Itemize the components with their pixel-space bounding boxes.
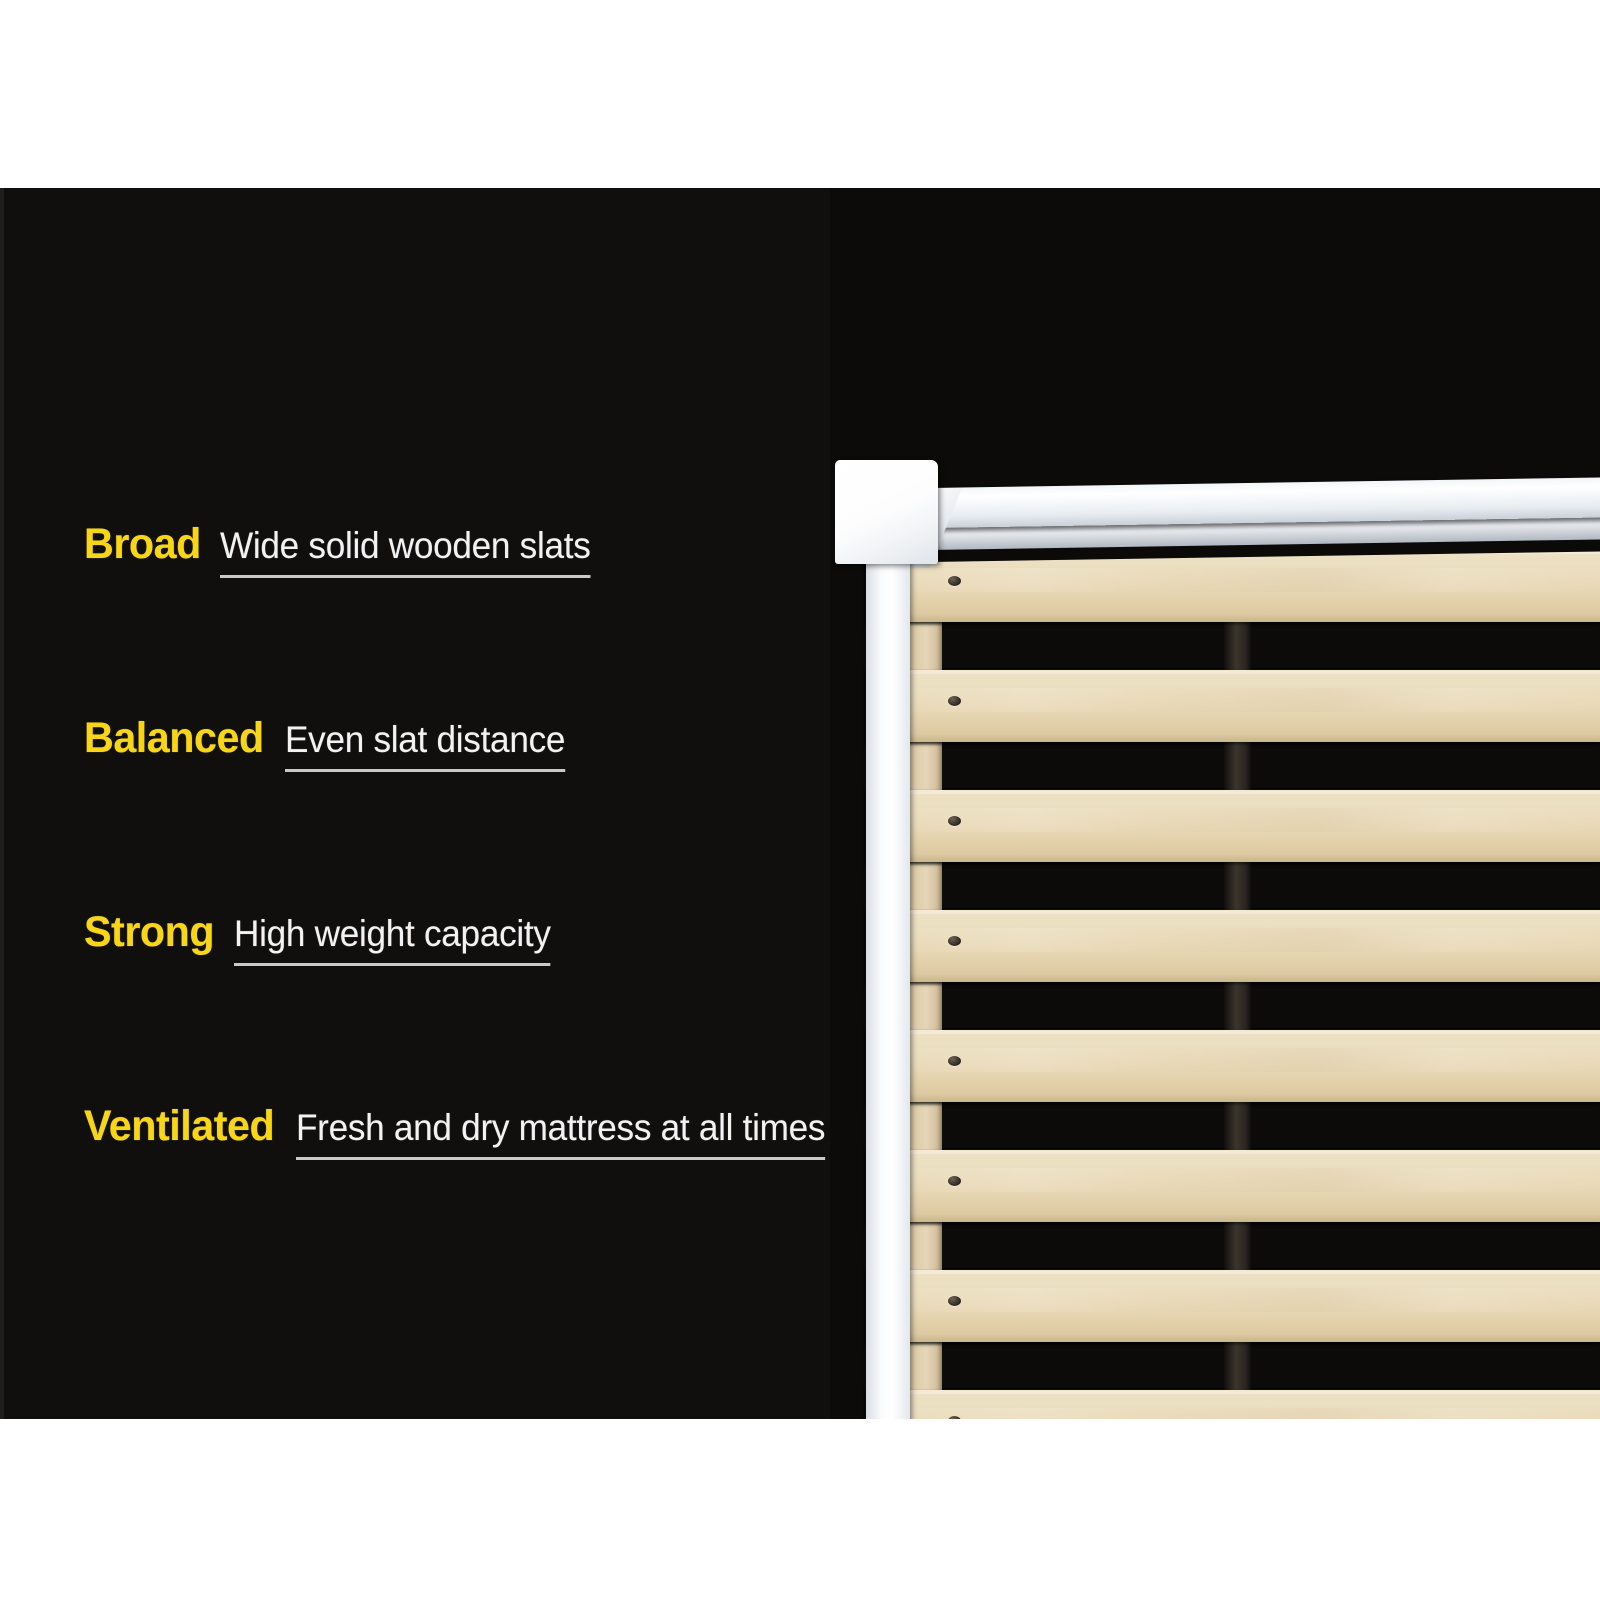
feature-key-strong: Strong — [84, 911, 214, 954]
feature-desc-ventilated: Fresh and dry mattress at all times — [296, 1109, 825, 1146]
slat — [866, 910, 1600, 982]
feature-desc-broad: Wide solid wooden slats — [220, 527, 591, 564]
screw-icon — [948, 576, 961, 586]
product-photo-bed-slats — [830, 188, 1600, 1419]
screw-icon — [948, 1176, 961, 1186]
screw-icon — [948, 936, 961, 946]
slat — [866, 1390, 1600, 1419]
feature-underline-ventilated — [296, 1157, 825, 1160]
slat — [866, 790, 1600, 862]
page-title: Reinforced thick slats — [56, 100, 1544, 192]
corner-post-cap — [835, 460, 938, 564]
feature-key-balanced: Balanced — [84, 717, 264, 760]
feature-row-broad: Broad Wide solid wooden slats — [84, 372, 844, 566]
feature-row-strong: Strong High weight capacity — [84, 760, 844, 954]
feature-row-ventilated: Ventilated Fresh and dry mattress at all… — [84, 954, 844, 1148]
screw-icon — [948, 1056, 961, 1066]
screw-icon — [948, 696, 961, 706]
panel-edge-highlight — [0, 188, 4, 1419]
corner-post — [866, 488, 910, 1419]
screw-icon — [948, 1296, 961, 1306]
feature-list: Broad Wide solid wooden slats Balanced E… — [84, 372, 844, 1148]
feature-row-balanced: Balanced Even slat distance — [84, 566, 844, 760]
screw-icon — [948, 816, 961, 826]
feature-desc-wrap-strong: High weight capacity — [234, 915, 567, 954]
poster-canvas: Reinforced thick slats Broad Wide solid … — [0, 0, 1600, 1600]
feature-desc-balanced: Even slat distance — [285, 721, 565, 758]
feature-desc-strong: High weight capacity — [234, 915, 551, 952]
slat — [866, 1150, 1600, 1222]
slat — [866, 1270, 1600, 1342]
screw-icon — [948, 1416, 961, 1419]
feature-key-broad: Broad — [84, 523, 201, 566]
feature-desc-wrap-broad: Wide solid wooden slats — [220, 527, 610, 566]
slat — [866, 1030, 1600, 1102]
feature-key-ventilated: Ventilated — [84, 1105, 274, 1148]
feature-desc-wrap-ventilated: Fresh and dry mattress at all times — [296, 1109, 853, 1148]
slat-group-overlay — [866, 550, 1600, 1419]
feature-desc-wrap-balanced: Even slat distance — [285, 721, 580, 760]
slat — [866, 670, 1600, 742]
